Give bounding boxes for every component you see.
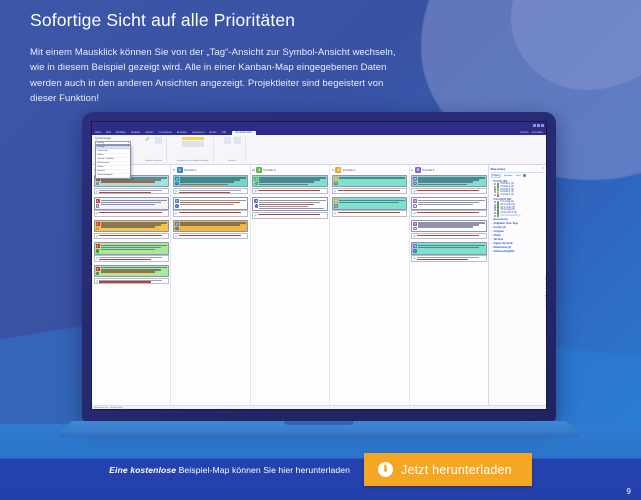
ribbon-group-label: Symbol zuweisen xyxy=(145,160,162,162)
expand-icon[interactable]: + xyxy=(491,219,493,221)
card-text-line xyxy=(259,202,319,203)
card-text-lines xyxy=(180,199,246,207)
index-item-label: Ohne Fortschritt (1) xyxy=(500,215,520,217)
app-statusbar: Symbolansicht · Kanban-Map xyxy=(92,405,546,409)
symbol-group-selector[interactable]: Symbol-Gruppe Priority ▾ PriorityFortsch… xyxy=(95,138,131,179)
card-text-line xyxy=(259,200,325,201)
card-body[interactable]: 5 xyxy=(411,197,486,209)
card-progress-icon xyxy=(413,204,417,208)
card-body[interactable]: 1 xyxy=(94,265,169,277)
index-group-name: Ressourcen xyxy=(494,218,508,221)
card-priority-icon: 3 xyxy=(254,199,258,203)
card-priority-icon: 1 xyxy=(96,199,100,203)
card-text-line xyxy=(339,202,399,203)
card-icons: 5 xyxy=(413,222,417,230)
card-text-lines xyxy=(101,199,167,207)
note-text-lines xyxy=(258,190,325,193)
card-text-line xyxy=(101,249,155,250)
note-text-lines xyxy=(179,190,246,193)
index-group[interactable]: +Ressourcen xyxy=(491,218,545,221)
index-toolbar-button-0[interactable]: Priority xyxy=(491,174,502,179)
note-text-line xyxy=(99,281,150,282)
card-priority-icon: 4 xyxy=(334,177,338,181)
card-note[interactable]: 🔗 xyxy=(332,188,407,195)
card-text-line xyxy=(418,222,484,223)
note-text-line xyxy=(179,190,241,191)
card-text-line xyxy=(418,204,472,205)
index-group-header[interactable]: +Schlüsselbegriffe xyxy=(491,250,545,253)
card-text-line xyxy=(180,179,240,180)
index-item-label: Fertig 100 % (5) xyxy=(500,212,516,214)
index-group[interactable]: +Meilenstein (2) xyxy=(491,246,545,249)
index-group[interactable]: +Eigene Symbole xyxy=(491,242,545,245)
panel-vertical-tabs[interactable]: Map-Index Aufgaben-Info xyxy=(545,275,547,310)
card-note[interactable]: 🔗 xyxy=(173,188,248,195)
kanban-card[interactable]: 2🔗 xyxy=(173,220,248,239)
sort-icon[interactable] xyxy=(234,137,241,144)
card-priority-icon: 1 xyxy=(96,244,100,248)
index-group-name: Risiko xyxy=(494,234,502,237)
kanban-card[interactable]: 2🔗 xyxy=(173,175,248,194)
card-body[interactable]: 2 xyxy=(173,197,248,209)
card-text-line xyxy=(259,204,313,205)
index-item-label: Priorität 1 (5) xyxy=(500,183,513,185)
index-group-header[interactable]: +Kosten (4) xyxy=(491,226,545,229)
card-progress-icon xyxy=(96,182,100,186)
card-note[interactable]: 🔗 xyxy=(94,188,169,195)
column-badge: 2 xyxy=(177,167,183,173)
link-icon: 🔗 xyxy=(96,190,99,193)
card-text-line xyxy=(418,245,484,246)
kanban-columns: 1Priorität 11🔗1🔗1🔗1🔗1🔗2Priorität 22🔗2🔗2🔗… xyxy=(92,165,488,405)
legend-row-selected[interactable] xyxy=(182,137,204,140)
card-text-lines xyxy=(101,267,167,275)
note-text-lines xyxy=(417,190,484,193)
column-title: Priorität 3 xyxy=(264,168,276,172)
ribbon-group-label: Ansicht xyxy=(229,160,236,162)
card-priority-icon: 1 xyxy=(96,267,100,271)
collapse-icon[interactable] xyxy=(173,169,175,171)
collapse-icon[interactable]: − xyxy=(491,180,493,182)
card-icons: 5 xyxy=(413,199,417,207)
card-text-line xyxy=(101,200,167,201)
card-icons: 1 xyxy=(96,244,100,252)
link-icon: 🔗 xyxy=(254,190,257,193)
index-group[interactable]: +Schlüsselbegriffe xyxy=(491,250,545,253)
column-header: 2Priorität 2 xyxy=(173,167,248,173)
kanban-card[interactable]: 5🔗 xyxy=(411,242,486,261)
note-text-line xyxy=(338,190,400,191)
slide-header: Sofortige Sicht auf alle Prioritäten Mit… xyxy=(30,10,400,107)
note-text-line xyxy=(338,212,400,213)
close-icon[interactable] xyxy=(541,124,544,127)
card-text-lines xyxy=(339,177,405,185)
chevron-down-icon[interactable]: ▾ xyxy=(128,142,129,144)
card-text-line xyxy=(101,181,155,182)
expand-icon[interactable]: + xyxy=(491,243,493,245)
laptop-lid: DateiStartEinfügenAufgabeAnsichtFormatie… xyxy=(82,112,556,421)
card-progress-icon xyxy=(255,204,259,208)
index-group-header[interactable]: +Eigene Symbole xyxy=(491,242,545,245)
index-toolbar-button-2[interactable]: Such xyxy=(515,175,522,178)
link-icon: 🔗 xyxy=(413,235,416,238)
note-text-lines xyxy=(99,190,166,193)
card-icons: 4 xyxy=(334,177,338,185)
expand-icon[interactable]: + xyxy=(491,223,493,225)
note-text-line xyxy=(417,190,479,191)
card-note[interactable]: 🔗 xyxy=(411,210,486,217)
card-priority-icon: 3 xyxy=(254,177,258,181)
checkbox-icon[interactable] xyxy=(494,215,496,217)
note-text-lines xyxy=(338,212,405,215)
legend-row[interactable] xyxy=(182,141,204,144)
card-icons: 4 xyxy=(334,199,338,207)
card-note[interactable]: 🔗 xyxy=(94,210,169,217)
card-body[interactable]: 5 xyxy=(411,175,486,187)
expand-icon[interactable]: + xyxy=(491,235,493,237)
card-progress-icon xyxy=(413,249,417,253)
link-icon: 🔗 xyxy=(175,212,178,215)
note-text-line xyxy=(99,192,150,193)
cta-lead-rest: Beispiel-Map können Sie hier herunterlad… xyxy=(176,465,350,475)
card-text-line xyxy=(101,269,161,270)
card-text-line xyxy=(259,184,307,185)
kanban-column-5[interactable]: 5Priorität 55🔗5🔗5🔗5🔗 xyxy=(410,165,488,405)
card-icons: 1 xyxy=(96,222,100,230)
card-icons: 2 xyxy=(175,222,179,230)
index-group-name: Termine xyxy=(494,238,504,241)
index-group[interactable]: −Priority (30)1Priorität 1 (5)2Priorität… xyxy=(491,180,545,197)
link-icon: 🔗 xyxy=(96,212,99,215)
card-icons: 1 xyxy=(96,199,100,207)
card-text-line xyxy=(418,224,478,225)
index-item-label: 0 % fertig (3) xyxy=(500,201,513,203)
card-body[interactable]: 3 xyxy=(252,197,327,211)
link-icon: 🔗 xyxy=(413,212,416,215)
download-button[interactable]: ⬇ Jetzt herunterladen xyxy=(364,453,532,486)
card-progress-icon xyxy=(96,227,100,231)
card-text-line xyxy=(101,245,167,246)
card-text-line xyxy=(101,202,161,203)
card-text-line xyxy=(101,226,155,227)
layout-icon[interactable] xyxy=(224,137,231,144)
card-text-lines xyxy=(259,199,325,209)
kanban-column-1[interactable]: 1Priorität 11🔗1🔗1🔗1🔗1🔗 xyxy=(92,165,171,405)
column-badge: 5 xyxy=(415,167,421,173)
card-icons: 3 xyxy=(254,177,258,185)
card-text-lines xyxy=(259,177,325,185)
link-icon: 🔗 xyxy=(96,280,99,283)
card-priority-icon: 5 xyxy=(413,177,417,181)
minimize-icon[interactable] xyxy=(533,124,536,127)
maximize-icon[interactable] xyxy=(537,124,540,127)
card-progress-icon xyxy=(413,182,417,186)
card-body[interactable]: 5 xyxy=(411,220,486,232)
expand-icon[interactable]: + xyxy=(491,227,493,229)
ribbon-group-assign[interactable]: ✓ Symbol zuweisen xyxy=(141,137,167,162)
card-text-line xyxy=(180,184,228,185)
kanban-card[interactable]: 4🔗 xyxy=(332,197,407,216)
card-body[interactable]: 2 xyxy=(173,220,248,232)
dropdown-option-7[interactable]: Neue Kategorie xyxy=(96,174,130,178)
collapse-icon[interactable] xyxy=(252,169,254,171)
kanban-column-2[interactable]: 2Priorität 22🔗2🔗2🔗 xyxy=(171,165,250,405)
card-text-lines xyxy=(101,222,167,230)
expand-icon[interactable]: + xyxy=(491,247,493,249)
card-note[interactable]: 🔗 xyxy=(411,233,486,240)
link-icon: 🔗 xyxy=(413,257,416,260)
card-text-line xyxy=(418,184,466,185)
index-group-header[interactable]: +Aufgaben ohne Tags xyxy=(491,222,545,225)
laptop-base xyxy=(55,421,583,437)
expand-icon[interactable]: + xyxy=(491,231,493,233)
kanban-card[interactable]: 1🔗 xyxy=(94,220,169,239)
priority-5-icon: 5 xyxy=(497,194,500,197)
card-text-line xyxy=(180,222,246,223)
ribbon-toolbar[interactable]: ✓ Symbol zuweisen Gruppieren der Symbol-… xyxy=(92,135,546,165)
card-text-line xyxy=(418,200,484,201)
index-group-header[interactable]: +Ressourcen xyxy=(491,218,545,221)
expand-icon[interactable]: + xyxy=(491,251,493,253)
card-text-line xyxy=(101,204,155,205)
kanban-column-3[interactable]: 3Priorität 33🔗3🔗 xyxy=(251,165,330,405)
note-text-line xyxy=(179,235,241,236)
card-icons: 3 xyxy=(254,199,258,209)
kanban-card[interactable]: 5🔗 xyxy=(411,175,486,194)
ribbon-group-grouping[interactable]: Gruppieren der Symbol-Funktion xyxy=(173,137,214,162)
note-text-line xyxy=(99,212,161,213)
column-badge: 3 xyxy=(256,167,262,173)
kanban-card[interactable]: 4🔗 xyxy=(332,175,407,194)
card-note[interactable]: 🔗 xyxy=(94,233,169,240)
note-text-lines xyxy=(417,257,484,260)
laptop-screen: DateiStartEinfügenAufgabeAnsichtFormatie… xyxy=(91,121,547,410)
card-text-line xyxy=(259,179,319,180)
card-text-line xyxy=(259,181,313,182)
card-priority-icon: 5 xyxy=(413,244,417,248)
page-title: Sofortige Sicht auf alle Prioritäten xyxy=(30,10,400,32)
card-note[interactable]: 🔗 xyxy=(252,188,327,195)
kanban-column-4[interactable]: 4Priorität 44🔗4🔗 xyxy=(330,165,409,405)
card-text-line xyxy=(101,222,167,223)
card-icons: 1 xyxy=(96,267,100,275)
symbol-group-dropdown-list[interactable]: PriorityFortschrittStatusTermin / Zeitpl… xyxy=(95,145,131,179)
card-priority-icon: 2 xyxy=(175,177,179,181)
card-body[interactable]: 3 xyxy=(252,175,327,187)
page-number: 9 xyxy=(627,487,631,496)
card-note[interactable]: 🔗 xyxy=(411,188,486,195)
checkbox-icon[interactable] xyxy=(494,201,496,203)
note-text-line xyxy=(179,212,241,213)
card-priority-icon: 2 xyxy=(175,199,179,203)
map-index-title: Map-Index xyxy=(491,167,506,171)
index-group-header[interactable]: +Risiko xyxy=(491,234,545,237)
kanban-card[interactable]: 3🔗 xyxy=(252,175,327,194)
card-note[interactable]: 🔗 xyxy=(173,233,248,240)
kanban-card[interactable]: 5🔗 xyxy=(411,220,486,239)
note-text-lines xyxy=(99,280,166,283)
expand-icon[interactable]: + xyxy=(491,239,493,241)
index-group[interactable]: +Termine xyxy=(491,238,545,241)
card-text-line xyxy=(101,271,155,272)
card-text-line xyxy=(180,224,240,225)
symbol-group-value: Priority xyxy=(97,142,128,144)
link-icon: 🔗 xyxy=(334,212,337,215)
card-body[interactable]: 5 xyxy=(411,242,486,254)
index-group[interactable]: +Risiko xyxy=(491,234,545,237)
note-text-lines xyxy=(179,212,246,215)
check-icon[interactable]: ✓ xyxy=(145,137,152,144)
link-icon: 🔗 xyxy=(96,257,99,260)
card-note[interactable]: 🔗 xyxy=(252,212,327,219)
index-group[interactable]: −Fortschritt (20)0 % fertig (3)25 % fert… xyxy=(491,198,545,218)
note-text-line xyxy=(417,235,479,236)
app-window: DateiStartEinfügenAufgabeAnsichtFormatie… xyxy=(92,122,546,409)
index-group-header[interactable]: +Termine xyxy=(491,238,545,241)
card-body[interactable]: 1 xyxy=(94,197,169,209)
card-body[interactable]: 4 xyxy=(332,197,407,209)
link-icon: 🔗 xyxy=(334,190,337,193)
card-text-line xyxy=(418,247,478,248)
note-text-lines xyxy=(258,214,325,217)
index-item-label: 25 % fertig (4) xyxy=(500,204,514,206)
card-text-lines xyxy=(180,177,246,185)
card-progress-icon xyxy=(96,204,100,208)
close-icon[interactable]: ✕ xyxy=(542,167,544,170)
ribbon-tabstrip[interactable]: DateiStartEinfügenAufgabeAnsichtFormatie… xyxy=(92,128,546,135)
index-item[interactable]: 5Priorität 5 (4) xyxy=(491,194,545,197)
index-group-name: Meilenstein (2) xyxy=(494,246,511,249)
collapse-icon[interactable]: − xyxy=(491,198,493,200)
checkbox-icon[interactable] xyxy=(494,194,496,196)
collapse-icon[interactable] xyxy=(332,169,334,171)
card-body[interactable]: 1 xyxy=(94,242,169,254)
card-icons: 2 xyxy=(175,199,179,207)
index-group[interactable]: +Aufgaben ohne Tags xyxy=(491,222,545,225)
kanban-card[interactable]: 1🔗 xyxy=(94,197,169,216)
note-text-lines xyxy=(417,212,484,215)
index-group-header[interactable]: +Meilenstein (2) xyxy=(491,246,545,249)
card-priority-icon: 2 xyxy=(175,222,179,226)
card-note[interactable]: 🔗 xyxy=(411,255,486,262)
card-body[interactable]: 2 xyxy=(173,175,248,187)
column-title: Priorität 2 xyxy=(184,168,196,172)
column-badge: 4 xyxy=(335,167,341,173)
card-priority-icon: 1 xyxy=(96,222,100,226)
card-progress-icon xyxy=(96,272,100,276)
column-header: 4Priorität 4 xyxy=(332,167,407,173)
kanban-card[interactable]: 1🔗 xyxy=(94,242,169,261)
ribbon-group-view[interactable]: Ansicht xyxy=(220,137,246,162)
index-group[interactable]: +Kosten (4) xyxy=(491,226,545,229)
kanban-card[interactable]: 1🔗 xyxy=(94,265,169,284)
link-icon: 🔗 xyxy=(254,214,257,217)
card-text-line xyxy=(339,177,405,178)
card-note[interactable]: 🔗 xyxy=(94,255,169,262)
index-item[interactable]: Ohne Fortschritt (1) xyxy=(491,215,545,218)
index-group-name: Gruppen xyxy=(494,230,504,233)
column-header: 5Priorität 5 xyxy=(411,167,486,173)
laptop-trackpad-notch xyxy=(284,421,354,425)
note-text-lines xyxy=(99,212,166,215)
card-text-line xyxy=(180,177,246,178)
map-index-tree[interactable]: −Priority (30)1Priorität 1 (5)2Priorität… xyxy=(491,180,545,254)
card-note[interactable]: 🔗 xyxy=(173,210,248,217)
card-text-line xyxy=(339,200,405,201)
kanban-card[interactable]: 2🔗 xyxy=(173,197,248,216)
index-group-name: Kosten (4) xyxy=(494,226,506,229)
note-text-lines xyxy=(99,257,166,260)
note-text-line xyxy=(258,190,320,191)
card-text-lines xyxy=(418,244,484,252)
cta-lead-bold: Eine kostenlose xyxy=(109,465,176,475)
card-text-lines xyxy=(339,199,405,207)
filter-icon[interactable] xyxy=(155,137,162,144)
index-group[interactable]: +Gruppen xyxy=(491,230,545,233)
card-note[interactable]: 🔗 xyxy=(332,210,407,217)
index-group-header[interactable]: +Gruppen xyxy=(491,230,545,233)
note-text-line xyxy=(258,214,320,215)
checkbox-icon[interactable] xyxy=(494,183,496,185)
page-body-text: Mit einem Mausklick können Sie von der „… xyxy=(30,45,400,107)
index-group-name: Schlüsselbegriffe xyxy=(494,250,515,253)
legend-row[interactable] xyxy=(182,144,204,147)
index-group-name: Eigene Symbole xyxy=(494,242,513,245)
card-priority-icon: 4 xyxy=(334,199,338,203)
card-icons: 2 xyxy=(175,177,179,185)
map-index-toolbar[interactable]: PrioritySymboleSuch xyxy=(491,174,545,179)
checkbox-icon[interactable] xyxy=(494,212,496,214)
card-progress-icon xyxy=(413,227,417,231)
card-note[interactable]: 🔗 xyxy=(94,278,169,285)
ribbon-group-label: Gruppieren der Symbol-Funktion xyxy=(177,160,209,162)
map-index-panel[interactable]: Map-Index ✕ PrioritySymboleSuch −Priorit… xyxy=(488,165,546,405)
column-title: Priorität 5 xyxy=(422,168,434,172)
index-group-name: Aufgaben ohne Tags xyxy=(494,222,519,225)
card-progress-icon xyxy=(175,182,179,186)
index-toolbar-button-1[interactable]: Symbole xyxy=(503,175,514,178)
kanban-card[interactable]: 3🔗 xyxy=(252,197,327,218)
card-progress-icon xyxy=(96,249,100,253)
card-text-lines xyxy=(418,199,484,207)
card-text-line xyxy=(418,202,478,203)
window-controls[interactable] xyxy=(533,124,544,127)
card-text-line xyxy=(259,206,307,207)
cta-row: Eine kostenlose Beispiel-Map können Sie … xyxy=(0,453,641,486)
download-icon: ⬇ xyxy=(378,462,393,477)
index-item-label: Priorität 5 (4) xyxy=(500,194,513,196)
card-text-line xyxy=(180,204,234,205)
note-text-lines xyxy=(99,235,166,238)
card-text-line xyxy=(418,177,484,178)
card-body[interactable]: 4 xyxy=(332,175,407,187)
kanban-board: 1Priorität 11🔗1🔗1🔗1🔗1🔗2Priorität 22🔗2🔗2🔗… xyxy=(92,165,546,405)
gear-icon[interactable] xyxy=(523,174,526,177)
card-text-line xyxy=(180,202,240,203)
collapse-icon[interactable] xyxy=(411,169,413,171)
card-priority-icon: 5 xyxy=(413,199,417,203)
column-header: 3Priorität 3 xyxy=(252,167,327,173)
note-text-line xyxy=(417,259,468,260)
card-icons: 5 xyxy=(413,177,417,185)
card-body[interactable]: 1 xyxy=(94,220,169,232)
card-text-line xyxy=(418,226,472,227)
kanban-card[interactable]: 5🔗 xyxy=(411,197,486,216)
card-text-line xyxy=(418,179,478,180)
card-text-lines xyxy=(101,244,167,252)
progress-none-icon xyxy=(497,215,500,218)
card-text-line xyxy=(259,177,325,178)
